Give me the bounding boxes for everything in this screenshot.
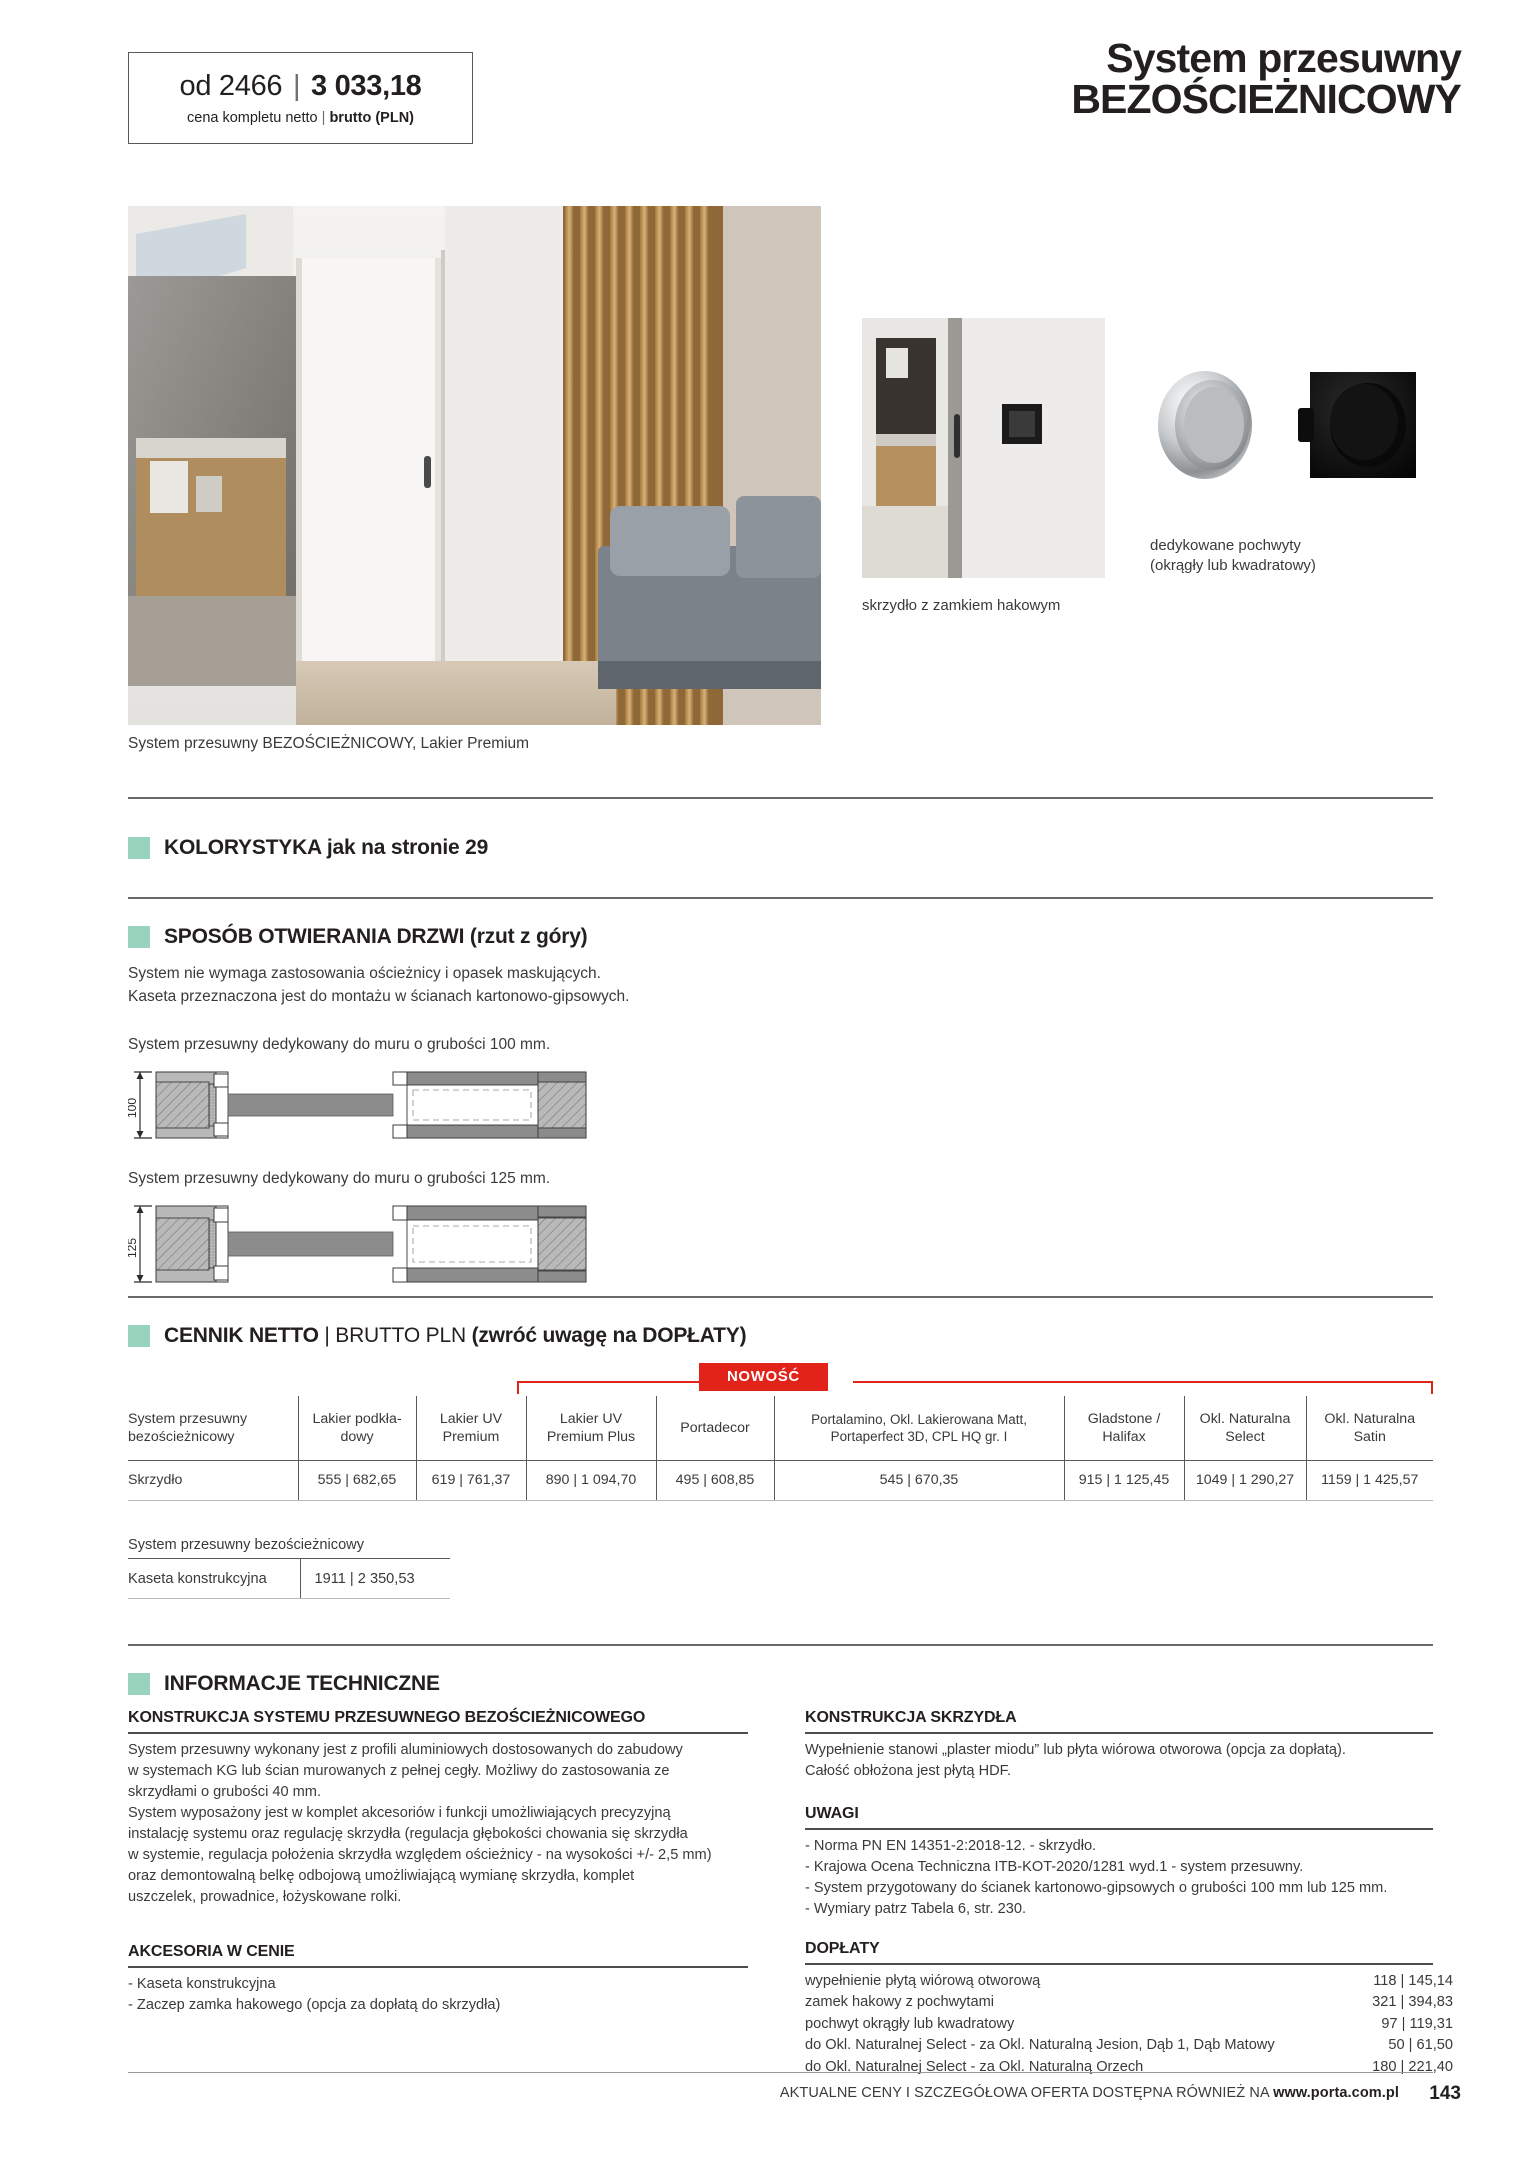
nowosc-banner: NOWOŚĆ	[517, 1360, 1433, 1394]
cennik-sep: |	[324, 1324, 329, 1347]
tech-left-head-konstrukcja-systemu: KONSTRUKCJA SYSTEMU PRZESUWNEGO BEZOŚCIE…	[128, 1709, 645, 1727]
detail-photo-caption: skrzydło z zamkiem hakowym	[862, 597, 1060, 614]
cell-gladstone-halifax: 915 | 1 125,45	[1064, 1460, 1184, 1500]
section-kolorystyka-title: KOLORYSTYKA jak na stronie 29	[164, 836, 488, 860]
tech-left-body1-line7: oraz demontowalną belkę odbojową umożliw…	[128, 1866, 753, 1887]
tech-left-body1-line3: skrzydłami o grubości 40 mm.	[128, 1782, 753, 1803]
page-number: 143	[1429, 2083, 1461, 2105]
sposob-bold: SPOSÓB OTWIERANIA DRZWI	[164, 925, 464, 948]
sposob-rest: (rzut z góry)	[470, 925, 588, 948]
doplaty-price: 50 | 61,50	[1388, 2035, 1453, 2056]
divider-below-kolorystyka	[128, 897, 1433, 899]
divider-above-informacje	[128, 1644, 1433, 1646]
cell-okl-naturalna-satin: 1159 | 1 425,57	[1306, 1460, 1433, 1500]
doplaty-row: zamek hakowy z pochwytami 321 | 394,83	[805, 1992, 1453, 2013]
tech-right-body1-line2: Całość obłożona jest płytą HDF.	[805, 1761, 1437, 1782]
tech-left-body1-line1: System przesuwny wykonany jest z profili…	[128, 1740, 753, 1761]
price-caption-gross: brutto (PLN)	[329, 110, 414, 126]
hero-photo-illustration	[128, 206, 821, 725]
nowosc-rule-left	[517, 1381, 699, 1383]
cennik-reg: BRUTTO PLN	[335, 1324, 466, 1347]
tech-left-rule-2	[128, 1966, 748, 1968]
col-header-select-l2: Select	[1189, 1428, 1302, 1446]
col-header-lakier-uv-premium-l1: Lakier UV	[421, 1410, 522, 1428]
kaseta-table-caption: System przesuwny bezościeżnicowy	[128, 1537, 450, 1559]
footer-text: AKTUALNE CENY I SZCZEGÓŁOWA OFERTA DOSTĘ…	[780, 2085, 1269, 2101]
handles-caption-line1: dedykowane pochwyty	[1150, 536, 1316, 556]
col-header-okl-naturalna-satin: Okl. Naturalna Satin	[1306, 1396, 1433, 1460]
doplaty-row: do Okl. Naturalnej Select - za Okl. Natu…	[805, 2057, 1453, 2078]
page-title-line2: BEZOŚCIEŻNICOWY	[1071, 79, 1461, 120]
tech-left-body1-line4: System wyposażony jest w komplet akcesor…	[128, 1803, 753, 1824]
section-informacje-title: INFORMACJE TECHNICZNE	[164, 1672, 440, 1696]
tech-left-body1-line6: w systemie, regulacja położenia skrzydła…	[128, 1845, 753, 1866]
diagram-100mm: 100	[128, 1066, 688, 1149]
cell-portalamino: 545 | 670,35	[774, 1460, 1064, 1500]
sposob-line1: System nie wymaga zastosowania ościeżnic…	[128, 963, 828, 986]
hero-photo	[128, 206, 821, 725]
col-header-portadecor-l1: Portadecor	[661, 1419, 770, 1437]
col-header-portalamino-l2: Portaperfect 3D, CPL HQ gr. I	[779, 1428, 1060, 1445]
doplaty-name: do Okl. Naturalnej Select - za Okl. Natu…	[805, 2035, 1275, 2056]
sposob-description: System nie wymaga zastosowania ościeżnic…	[128, 963, 828, 1008]
tech-left-body2-line2: - Zaczep zamka hakowego (opcja za dopłat…	[128, 1995, 753, 2016]
handles-photo	[1150, 350, 1450, 500]
svg-text:100: 100	[128, 1098, 139, 1118]
divider-above-kolorystyka	[128, 797, 1433, 799]
price-caption-sep: |	[322, 110, 326, 126]
doplaty-price: 321 | 394,83	[1372, 1992, 1453, 2013]
tech-right-rule-1	[805, 1732, 1433, 1734]
cennik-bold1: CENNIK NETTO	[164, 1324, 319, 1347]
col-header-system-l1: System przesuwny	[128, 1410, 294, 1428]
green-square-icon	[128, 837, 150, 859]
col-header-select-l1: Okl. Naturalna	[1189, 1410, 1302, 1428]
section-informacje-techniczne: INFORMACJE TECHNICZNE	[128, 1672, 440, 1696]
price-main-line: od 2466 | 3 033,18	[179, 70, 421, 103]
col-header-lakier-uv-premium-plus-l1: Lakier UV	[531, 1410, 652, 1428]
section-kolorystyka: KOLORYSTYKA jak na stronie 29	[128, 836, 488, 860]
price-table-head: System przesuwny bezościeżnicowy Lakier …	[128, 1396, 1433, 1460]
tech-right-body2-line2: - Krajowa Ocena Techniczna ITB-KOT-2020/…	[805, 1857, 1445, 1878]
tech-left-rule-1	[128, 1732, 748, 1734]
section-sposob-title: SPOSÓB OTWIERANIA DRZWI (rzut z góry)	[164, 925, 587, 949]
price-table-header-row: System przesuwny bezościeżnicowy Lakier …	[128, 1396, 1433, 1460]
nowosc-tick-left	[517, 1381, 519, 1394]
diagram-125mm: 125	[128, 1200, 688, 1293]
doplaty-price: 180 | 221,40	[1372, 2057, 1453, 2078]
col-header-portalamino: Portalamino, Okl. Lakierowana Matt, Port…	[774, 1396, 1064, 1460]
diagram-125mm-drawing: 125	[128, 1200, 688, 1288]
col-header-lakier-uv-premium-l2: Premium	[421, 1428, 522, 1446]
doplaty-name: do Okl. Naturalnej Select - za Okl. Natu…	[805, 2057, 1143, 2078]
footer-note: AKTUALNE CENY I SZCZEGÓŁOWA OFERTA DOSTĘ…	[780, 2085, 1399, 2101]
cell-lakier-uv-premium-plus: 890 | 1 094,70	[526, 1460, 656, 1500]
tech-right-head-doplaty: DOPŁATY	[805, 1940, 880, 1958]
tech-right-rule-3	[805, 1963, 1433, 1965]
hero-photo-caption: System przesuwny BEZOŚCIEŻNICOWY, Lakier…	[128, 735, 529, 753]
price-box: od 2466 | 3 033,18 cena kompletu netto |…	[128, 52, 473, 144]
kaseta-table-body: Kaseta konstrukcyjna 1911 | 2 350,53	[128, 1559, 450, 1599]
col-header-satin-l2: Satin	[1311, 1428, 1430, 1446]
kaseta-table-head: System przesuwny bezościeżnicowy	[128, 1537, 450, 1559]
price-net-value: 2466	[219, 70, 282, 102]
doplaty-price: 97 | 119,31	[1381, 2014, 1453, 2035]
col-header-portadecor: Portadecor	[656, 1396, 774, 1460]
cennik-bold2: (zwróć uwagę na DOPŁATY)	[472, 1324, 747, 1347]
handles-photo-caption: dedykowane pochwyty (okrągły lub kwadrat…	[1150, 536, 1316, 576]
diagram-100mm-drawing: 100	[128, 1066, 688, 1144]
price-caption: cena kompletu netto | brutto (PLN)	[187, 110, 414, 126]
col-header-lakier-podkladowy-l2: dowy	[303, 1428, 412, 1446]
col-header-system-l2: bezościeżnicowy	[128, 1428, 294, 1446]
col-header-lakier-podkladowy-l1: Lakier podkła-	[303, 1410, 412, 1428]
col-header-lakier-podkladowy: Lakier podkła- dowy	[298, 1396, 416, 1460]
cell-lakier-uv-premium: 619 | 761,37	[416, 1460, 526, 1500]
col-header-gladstone-halifax: Gladstone / Halifax	[1064, 1396, 1184, 1460]
green-square-icon	[128, 1325, 150, 1347]
doplaty-price: 118 | 145,14	[1373, 1971, 1453, 1992]
handles-caption-line2: (okrągły lub kwadratowy)	[1150, 556, 1316, 576]
nowosc-rule-right	[853, 1381, 1433, 1383]
col-header-lakier-uv-premium-plus-l2: Premium Plus	[531, 1428, 652, 1446]
handles-illustration	[1150, 350, 1450, 500]
price-table: System przesuwny bezościeżnicowy Lakier …	[128, 1396, 1433, 1501]
svg-text:125: 125	[128, 1238, 139, 1258]
doplaty-name: pochwyt okrągły lub kwadratowy	[805, 2014, 1014, 2035]
col-header-gladstone-l1: Gladstone /	[1069, 1410, 1180, 1428]
nowosc-badge: NOWOŚĆ	[699, 1363, 828, 1391]
tech-left-body1-line5: instalację systemu oraz regulację skrzyd…	[128, 1824, 753, 1845]
footer-website-link[interactable]: www.porta.com.pl	[1273, 2085, 1399, 2101]
page-title-line1: System przesuwny	[1071, 38, 1461, 79]
tech-left-body-2: - Kaseta konstrukcyjna - Zaczep zamka ha…	[128, 1974, 753, 2016]
col-header-portalamino-l1: Portalamino, Okl. Lakierowana Matt,	[779, 1411, 1060, 1428]
nowosc-tick-right	[1431, 1381, 1433, 1394]
detail-photo	[862, 318, 1105, 578]
diagram-label-125: System przesuwny dedykowany do muru o gr…	[128, 1170, 550, 1188]
doplaty-list: wypełnienie płytą wiórową otworową 118 |…	[805, 1971, 1453, 2078]
page-title: System przesuwny BEZOŚCIEŻNICOWY	[1071, 38, 1461, 121]
tech-left-head-akcesoria: AKCESORIA W CENIE	[128, 1943, 295, 1961]
col-header-satin-l1: Okl. Naturalna	[1311, 1410, 1430, 1428]
tech-right-body2-line1: - Norma PN EN 14351-2:2018-12. - skrzydł…	[805, 1836, 1445, 1857]
diagram-label-100: System przesuwny dedykowany do muru o gr…	[128, 1036, 550, 1054]
col-header-gladstone-l2: Halifax	[1069, 1428, 1180, 1446]
col-header-okl-naturalna-select: Okl. Naturalna Select	[1184, 1396, 1306, 1460]
tech-left-body1-line8: uszczelek, prowadnice, łożyskowane rolki…	[128, 1887, 753, 1908]
kaseta-row-label: Kaseta konstrukcyjna	[128, 1559, 300, 1599]
tech-left-body2-line1: - Kaseta konstrukcyjna	[128, 1974, 753, 1995]
col-header-lakier-uv-premium-plus: Lakier UV Premium Plus	[526, 1396, 656, 1460]
doplaty-row: wypełnienie płytą wiórową otworową 118 |…	[805, 1971, 1453, 1992]
table-row: Skrzydło 555 | 682,65 619 | 761,37 890 |…	[128, 1460, 1433, 1500]
tech-left-body1-line2: w systemach KG lub ścian murowanych z pe…	[128, 1761, 753, 1782]
section-cennik: CENNIK NETTO | BRUTTO PLN (zwróć uwagę n…	[128, 1324, 746, 1348]
green-square-icon	[128, 926, 150, 948]
section-cennik-title: CENNIK NETTO | BRUTTO PLN (zwróć uwagę n…	[164, 1324, 746, 1348]
doplaty-name: wypełnienie płytą wiórową otworową	[805, 1971, 1040, 1992]
doplaty-name: zamek hakowy z pochwytami	[805, 1992, 994, 2013]
tech-right-rule-2	[805, 1828, 1433, 1830]
tech-left-body-1: System przesuwny wykonany jest z profili…	[128, 1740, 753, 1908]
doplaty-row: do Okl. Naturalnej Select - za Okl. Natu…	[805, 2035, 1453, 2056]
table-row: Kaseta konstrukcyjna 1911 | 2 350,53	[128, 1559, 450, 1599]
kaseta-table: System przesuwny bezościeżnicowy Kaseta …	[128, 1537, 450, 1599]
col-header-lakier-uv-premium: Lakier UV Premium	[416, 1396, 526, 1460]
price-gross-value: 3 033,18	[311, 70, 422, 102]
tech-right-body-2: - Norma PN EN 14351-2:2018-12. - skrzydł…	[805, 1836, 1445, 1920]
tech-right-body1-line1: Wypełnienie stanowi „plaster miodu” lub …	[805, 1740, 1437, 1761]
cell-lakier-podkladowy: 555 | 682,65	[298, 1460, 416, 1500]
tech-right-body2-line3: - System przygotowany do ścianek kartono…	[805, 1878, 1445, 1899]
green-square-icon	[128, 1673, 150, 1695]
divider-above-cennik	[128, 1296, 1433, 1298]
price-from-label: od	[179, 70, 211, 102]
col-header-system: System przesuwny bezościeżnicowy	[128, 1396, 298, 1460]
tech-right-head-konstrukcja-skrzydla: KONSTRUKCJA SKRZYDŁA	[805, 1709, 1017, 1727]
detail-photo-illustration	[862, 318, 1105, 578]
cell-okl-naturalna-select: 1049 | 1 290,27	[1184, 1460, 1306, 1500]
kaseta-row-value: 1911 | 2 350,53	[300, 1559, 450, 1599]
price-caption-net: cena kompletu netto	[187, 110, 318, 126]
doplaty-row: pochwyt okrągły lub kwadratowy 97 | 119,…	[805, 2014, 1453, 2035]
tech-right-body2-line4: - Wymiary patrz Tabela 6, str. 230.	[805, 1899, 1445, 1920]
tech-right-body-1: Wypełnienie stanowi „plaster miodu” lub …	[805, 1740, 1437, 1782]
tech-right-head-uwagi: UWAGI	[805, 1805, 859, 1823]
row-label-skrzydlo: Skrzydło	[128, 1460, 298, 1500]
footer-divider	[128, 2072, 1433, 2073]
cell-portadecor: 495 | 608,85	[656, 1460, 774, 1500]
kolorystyka-rest: jak na stronie 29	[327, 836, 488, 859]
kolorystyka-bold: KOLORYSTYKA	[164, 836, 321, 859]
price-separator: |	[290, 70, 303, 102]
section-sposob-otwierania: SPOSÓB OTWIERANIA DRZWI (rzut z góry)	[128, 925, 587, 949]
price-table-body: Skrzydło 555 | 682,65 619 | 761,37 890 |…	[128, 1460, 1433, 1500]
catalog-page: od 2466 | 3 033,18 cena kompletu netto |…	[0, 0, 1527, 2160]
sposob-line2: Kaseta przeznaczona jest do montażu w śc…	[128, 986, 828, 1009]
